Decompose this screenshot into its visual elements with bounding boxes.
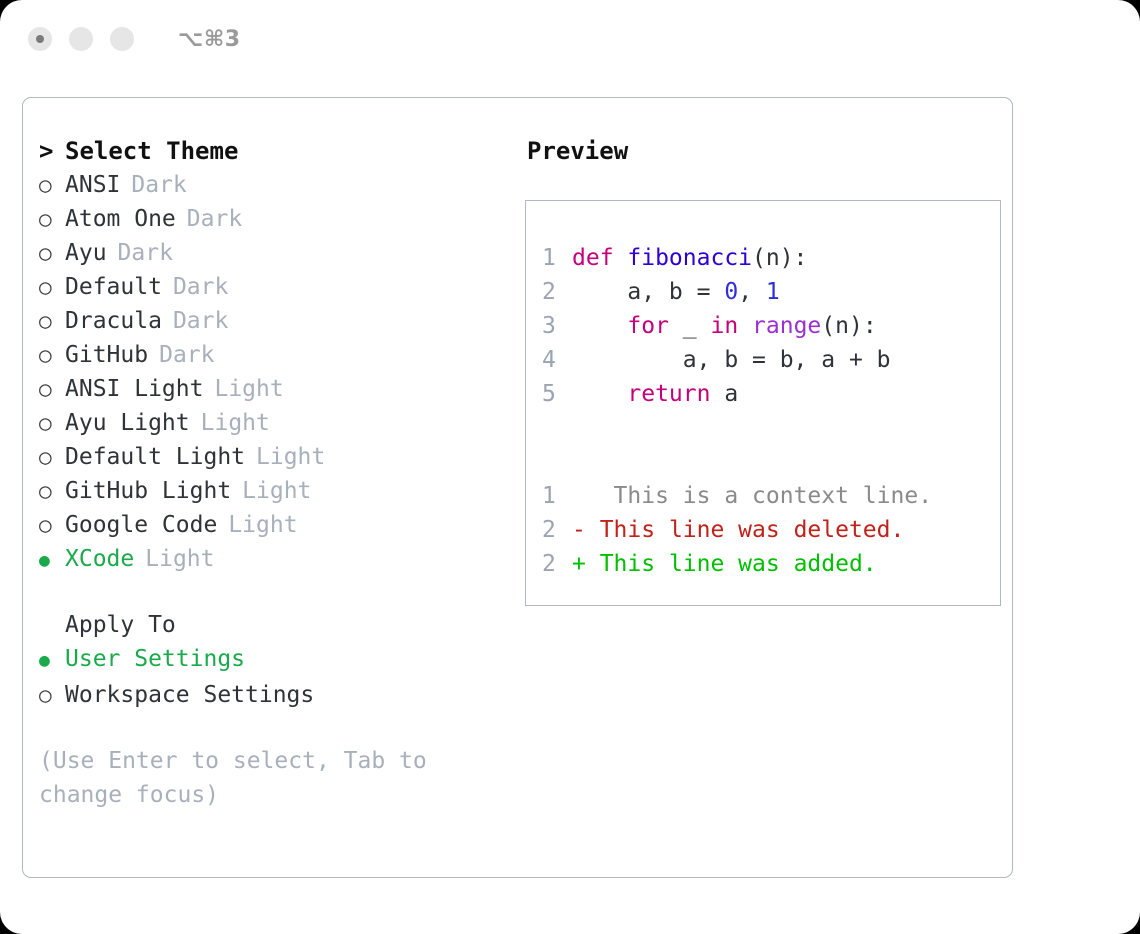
window-dot-3-button[interactable] [110,27,134,51]
preview-column: Preview 1 def fibonacci(n): 2 a, b = 0, … [507,134,1012,812]
keyboard-hint-text: (Use Enter to select, Tab to change focu… [39,744,439,812]
prompt-caret-icon: > [39,134,65,168]
keyboard-shortcut-label: ⌥⌘3 [178,27,241,52]
radio-unselected-icon: ○ [39,202,65,236]
theme-list-item-github[interactable]: ○ GitHub Dark [39,338,507,372]
code-token: for [627,313,669,339]
hint-spacer [39,712,507,744]
preview-title: Preview [527,134,1012,168]
code-token [738,313,752,339]
radio-unselected-icon: ○ [39,304,65,338]
apply-to-heading: ○ Apply To [39,608,507,642]
line-number: 1 [542,479,572,513]
line-number: 2 [542,275,572,309]
theme-name: Default [65,270,162,304]
code-token: _ [669,313,711,339]
code-token: (n): [821,313,876,339]
radio-unselected-icon: ○ [39,236,65,270]
radio-unselected-icon: ○ [39,678,65,712]
apply-to-option-user-settings[interactable]: ● User Settings [39,642,507,678]
theme-name: Ayu Light [65,406,190,440]
theme-list-item-ansi[interactable]: ○ ANSI Dark [39,168,507,202]
code-line: 3 for _ in range(n): [542,309,1000,343]
diff-text: This is a context line. [586,479,932,513]
diff-line-added: 2 + This line was added. [542,547,1000,581]
diff-preview: 1 This is a context line. 2 - This line … [542,479,1000,581]
line-number: 1 [542,241,572,275]
code-token: range [752,313,821,339]
theme-kind: Dark [131,168,186,202]
select-theme-heading: > Select Theme [39,134,507,168]
theme-list-item-default[interactable]: ○ Default Dark [39,270,507,304]
radio-unselected-icon: ○ [39,474,65,508]
code-content: def fibonacci(n): [572,241,807,275]
radio-unselected-icon: ○ [39,406,65,440]
radio-unselected-icon: ○ [39,270,65,304]
theme-kind: Dark [173,270,228,304]
app-window: ⌥⌘3 > Select Theme ○ ANSI Dark ○ [0,0,1140,934]
select-theme-heading-label: Select Theme [65,134,238,168]
code-token: fibonacci [627,245,752,271]
code-content: for _ in range(n): [572,309,877,343]
radio-selected-icon: ● [39,644,65,678]
window-dot-active-button[interactable] [28,27,52,51]
preview-separator [542,445,1000,479]
theme-list-item-default-light[interactable]: ○ Default Light Light [39,440,507,474]
code-token: return [627,381,710,407]
diff-sign: - [572,513,586,547]
preview-separator [542,411,1000,445]
theme-name: ANSI Light [65,372,203,406]
theme-name: Google Code [65,508,217,542]
theme-list-item-github-light[interactable]: ○ GitHub Light Light [39,474,507,508]
radio-unselected-icon: ○ [39,338,65,372]
code-token: a, b = [572,279,724,305]
code-token: def [572,245,627,271]
theme-kind: Light [228,508,297,542]
apply-to-option-label: Workspace Settings [65,678,314,712]
diff-sign: + [572,547,586,581]
code-token: a, b = b, a + b [572,347,891,373]
apply-to-options: ● User Settings ○ Workspace Settings [39,642,507,712]
code-token: 1 [766,279,780,305]
line-number: 3 [542,309,572,343]
theme-name: Ayu [65,236,107,270]
title-bar: ⌥⌘3 [0,0,1140,78]
theme-kind: Light [256,440,325,474]
code-line: 1 def fibonacci(n): [542,241,1000,275]
theme-list-item-atom-one[interactable]: ○ Atom One Dark [39,202,507,236]
diff-line-context: 1 This is a context line. [542,479,1000,513]
theme-kind: Dark [159,338,214,372]
diff-text: This line was deleted. [586,513,905,547]
theme-picker-column: > Select Theme ○ ANSI Dark ○ Atom One Da… [39,134,507,812]
code-line: 4 a, b = b, a + b [542,343,1000,377]
line-number: 4 [542,343,572,377]
code-preview: 1 def fibonacci(n): 2 a, b = 0, 1 3 for … [542,241,1000,411]
theme-kind: Light [214,372,283,406]
code-token [572,313,627,339]
code-token: , [738,279,766,305]
radio-selected-icon: ● [39,544,65,578]
line-number: 5 [542,377,572,411]
theme-name: ANSI [65,168,120,202]
theme-list: ○ ANSI Dark ○ Atom One Dark ○ Ayu Dark [39,168,507,578]
code-token: 0 [724,279,738,305]
theme-kind: Dark [118,236,173,270]
content-panel: > Select Theme ○ ANSI Dark ○ Atom One Da… [22,97,1013,878]
theme-kind: Dark [173,304,228,338]
theme-kind: Dark [187,202,242,236]
apply-to-option-workspace-settings[interactable]: ○ Workspace Settings [39,678,507,712]
theme-name: Dracula [65,304,162,338]
code-token [572,381,627,407]
code-content: a, b = 0, 1 [572,275,780,309]
theme-list-item-dracula[interactable]: ○ Dracula Dark [39,304,507,338]
code-content: return a [572,377,738,411]
window-dot-active-icon [36,35,44,43]
radio-unselected-icon: ○ [39,508,65,542]
apply-to-option-label: User Settings [65,642,245,676]
theme-kind: Light [201,406,270,440]
theme-name: Atom One [65,202,176,236]
diff-sign [572,479,586,513]
radio-unselected-icon: ○ [39,440,65,474]
code-content: a, b = b, a + b [572,343,891,377]
theme-list-item-ansi-light[interactable]: ○ ANSI Light Light [39,372,507,406]
theme-list-item-google-code[interactable]: ○ Google Code Light [39,508,507,542]
apply-to-title: Apply To [65,608,176,642]
line-number: 2 [542,513,572,547]
radio-unselected-icon: ○ [39,372,65,406]
diff-text: This line was added. [586,547,877,581]
apply-to-marker-placeholder: ○ [39,608,65,642]
diff-line-deleted: 2 - This line was deleted. [542,513,1000,547]
theme-name: Default Light [65,440,245,474]
radio-unselected-icon: ○ [39,168,65,202]
theme-name: GitHub [65,338,148,372]
code-line: 2 a, b = 0, 1 [542,275,1000,309]
theme-kind: Light [242,474,311,508]
theme-list-item-ayu-light[interactable]: ○ Ayu Light Light [39,406,507,440]
list-spacer [39,578,507,608]
preview-box: 1 def fibonacci(n): 2 a, b = 0, 1 3 for … [525,200,1001,606]
code-token: (n): [752,245,807,271]
theme-kind: Light [145,542,214,576]
window-dot-2-button[interactable] [69,27,93,51]
line-number: 2 [542,547,572,581]
code-line: 5 return a [542,377,1000,411]
window-controls [28,27,134,51]
code-token: a [710,381,738,407]
theme-list-item-xcode[interactable]: ● XCode Light [39,542,507,578]
theme-name: XCode [65,542,134,576]
theme-name: GitHub Light [65,474,231,508]
theme-list-item-ayu[interactable]: ○ Ayu Dark [39,236,507,270]
code-token: in [710,313,738,339]
